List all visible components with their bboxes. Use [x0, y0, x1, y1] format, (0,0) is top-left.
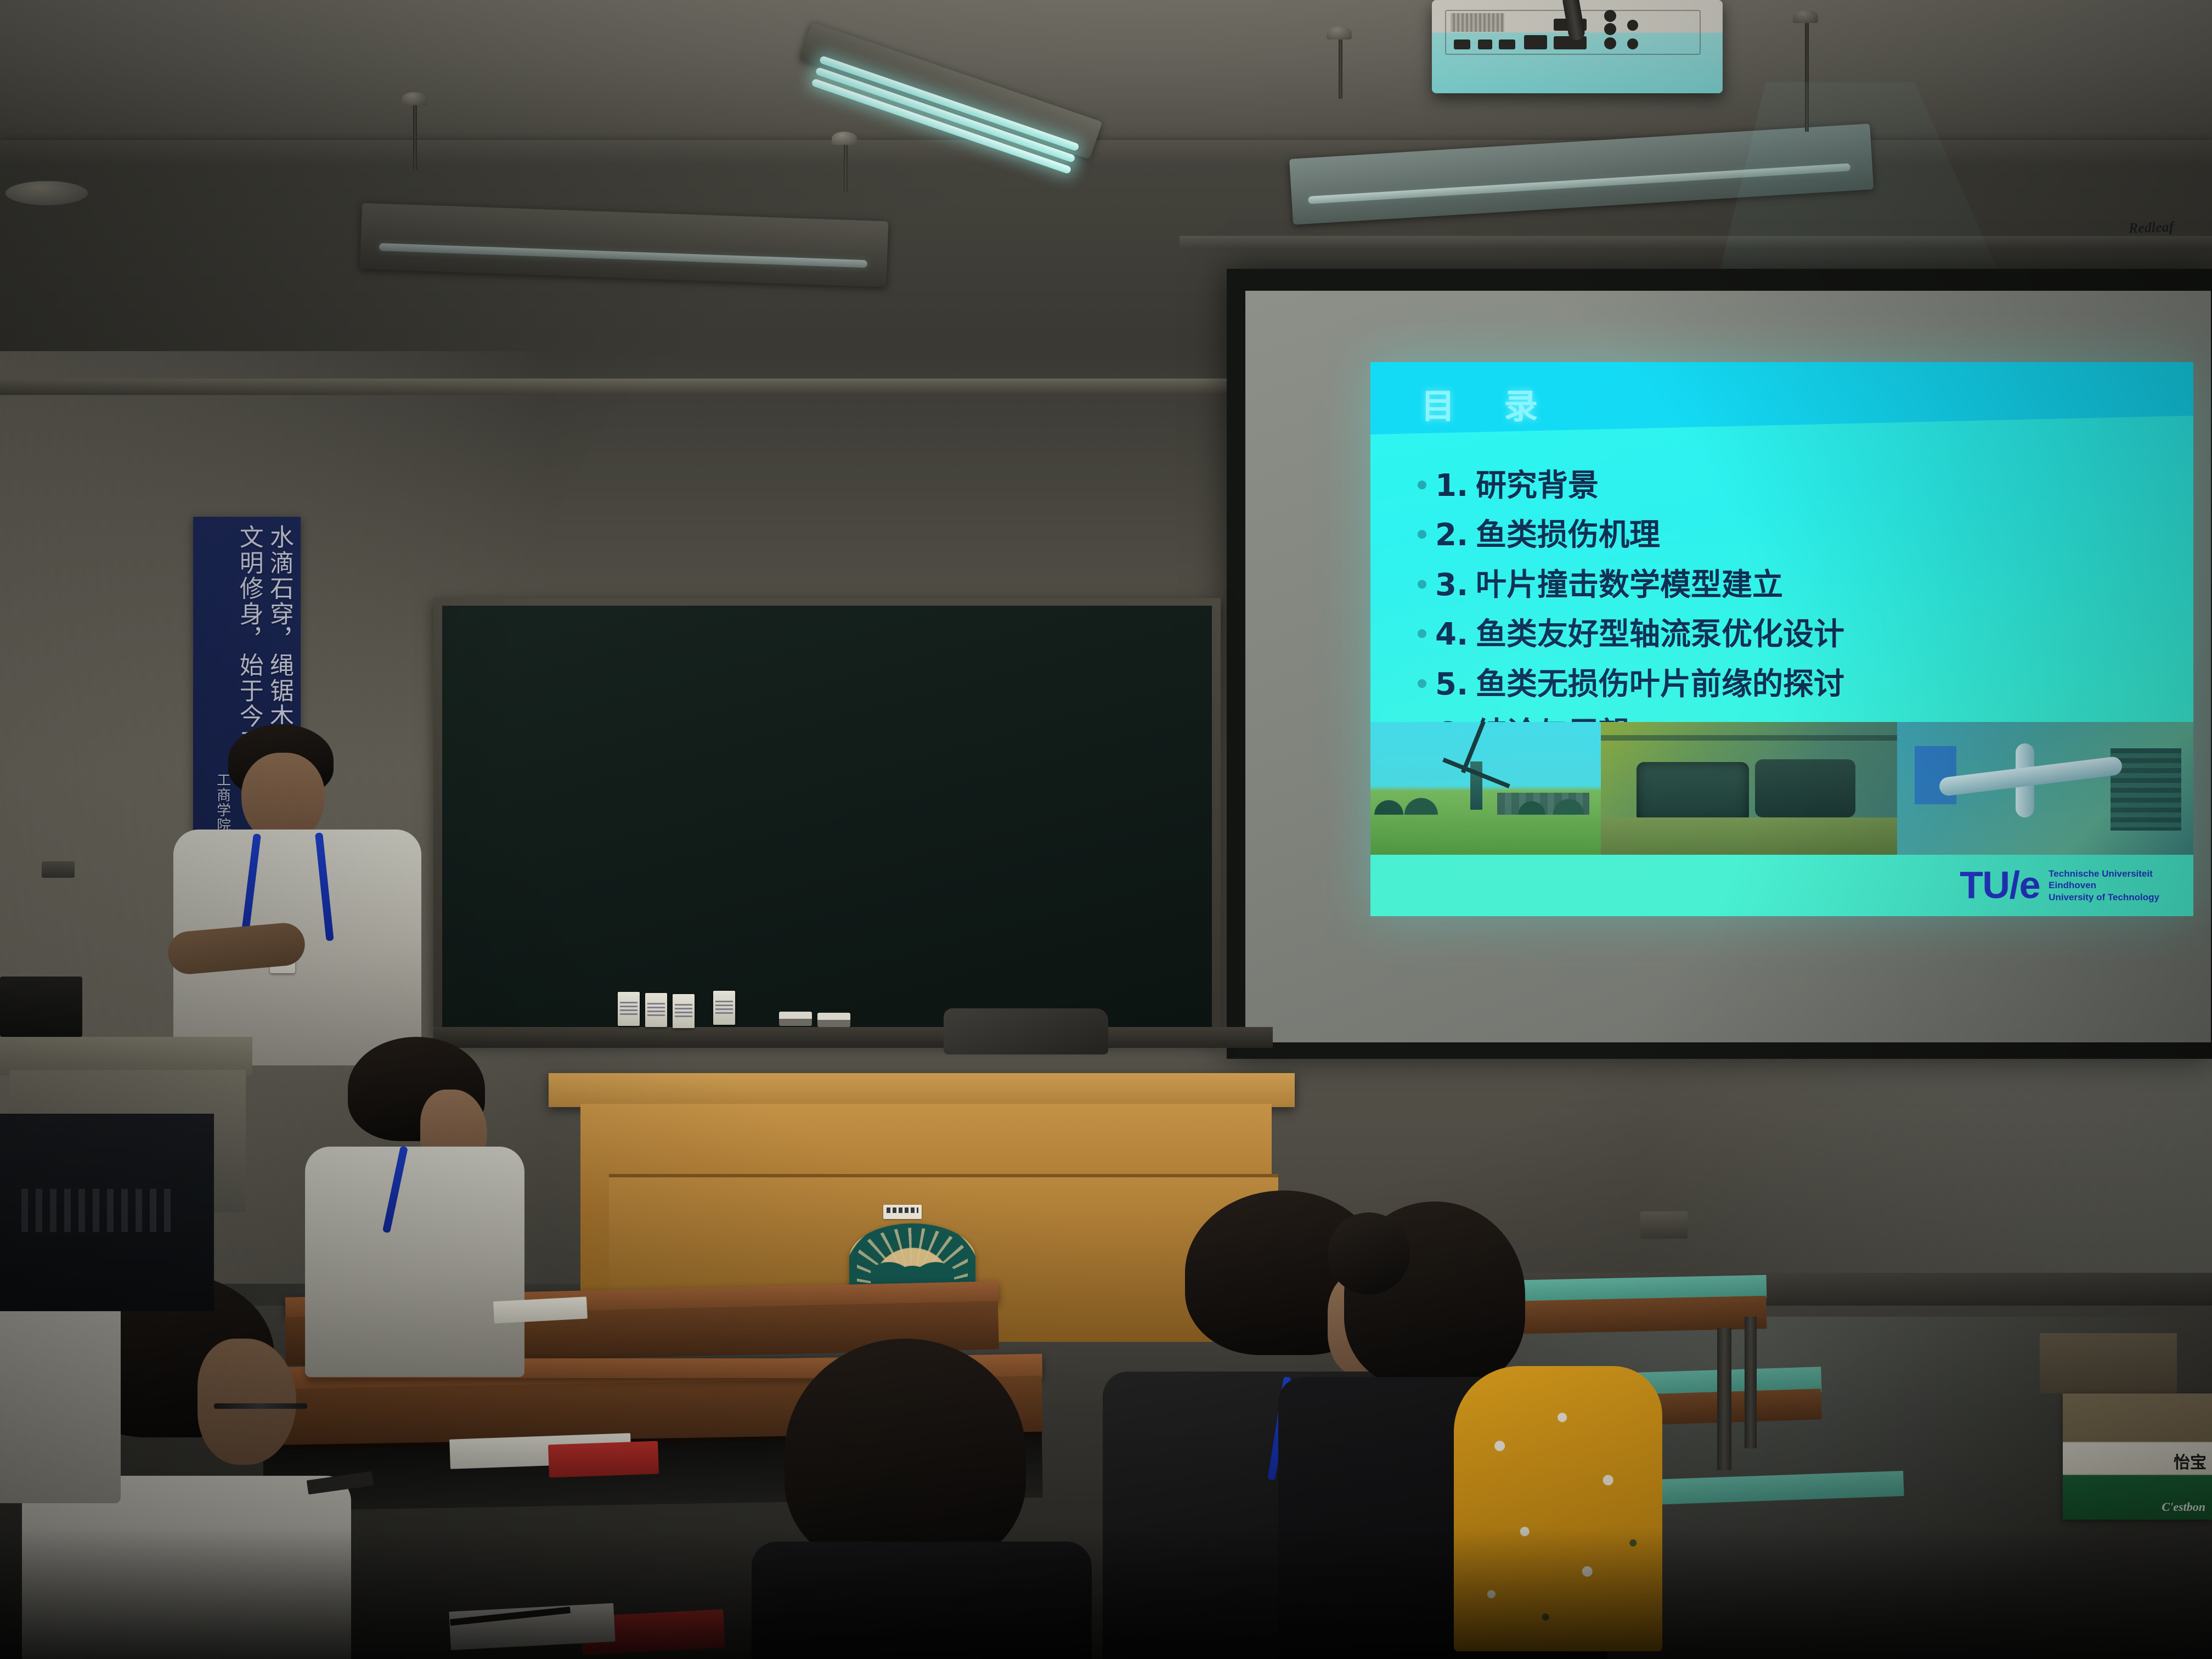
podium-label-tag	[883, 1205, 922, 1219]
slide-title: 目 录	[1421, 379, 1545, 428]
glasses	[214, 1403, 307, 1409]
attendee-floral	[1454, 1333, 1673, 1659]
slide-photo-windmill	[1370, 722, 1601, 855]
wall-edge-label: Redleaf	[2129, 219, 2174, 237]
tue-logo-line3: University of Technology	[2049, 891, 2159, 903]
water-carton: 怡宝 C'estbon	[2063, 1393, 2212, 1520]
notice-board	[0, 1114, 214, 1311]
toc-item: 5. 鱼类无损伤叶片前缘的探讨	[1418, 668, 2160, 701]
attendee-torso	[0, 1284, 121, 1503]
ceiling-projector	[1432, 0, 1723, 93]
chalk-box[interactable]	[645, 993, 667, 1027]
toc-item: 3. 叶片撞击数学模型建立	[1418, 569, 2160, 602]
chalk-box[interactable]	[673, 994, 695, 1028]
toc-number: 5.	[1435, 668, 1476, 701]
desk-leg-1	[1717, 1328, 1731, 1470]
slide-footer-band: TU/e Technische Universiteit Eindhoven U…	[1370, 855, 2193, 916]
desk-leg-2	[1745, 1317, 1757, 1448]
cardboard-box-upper	[2040, 1333, 2177, 1393]
wall-cornice-left	[0, 379, 1234, 395]
red-notebook[interactable]	[548, 1441, 659, 1478]
toc-item: 1. 研究背景	[1418, 470, 2160, 503]
attendee-center	[752, 1339, 1092, 1659]
ceiling-fixture-corner	[5, 181, 88, 205]
water-carton-brand-cn: 怡宝	[2174, 1449, 2207, 1473]
toc-bullet-icon	[1418, 530, 1426, 539]
attendee-face	[198, 1339, 296, 1465]
presenter	[165, 724, 439, 1064]
toc-item: 4. 鱼类友好型轴流泵优化设计	[1418, 618, 2160, 651]
toc-bullet-icon	[1418, 629, 1426, 638]
toc-number: 4.	[1435, 618, 1476, 651]
wall-outlet[interactable]	[42, 861, 75, 878]
toc-label: 鱼类损伤机理	[1476, 519, 1660, 552]
chalkboard	[442, 606, 1212, 1032]
attendee-hair-bun	[1328, 1212, 1410, 1295]
slide-photo-pump-workshop	[1601, 722, 1897, 855]
chalkboard-eraser[interactable]	[817, 1013, 850, 1027]
chalkboard-ledge	[433, 1027, 1273, 1048]
attendee-torso	[1454, 1366, 1662, 1651]
chalk-box[interactable]	[618, 992, 640, 1026]
water-carton-brand-en: C'estbon	[2162, 1500, 2205, 1514]
chalkboard-eraser[interactable]	[779, 1012, 812, 1026]
toc-number: 2.	[1435, 519, 1476, 552]
toc-bullet-icon	[1418, 679, 1426, 688]
laptop[interactable]	[0, 977, 82, 1037]
attendee-hair	[785, 1339, 1026, 1569]
attendee-torso	[752, 1542, 1092, 1659]
toc-label: 鱼类无损伤叶片前缘的探讨	[1476, 668, 1844, 701]
lectern-top-surface	[549, 1073, 1295, 1107]
tue-logo-line1: Technische Universiteit	[2049, 868, 2159, 879]
lecture-hall-photo: 目 录 1. 研究背景 2. 鱼类损伤机理 3. 叶片撞击数学模型建立 4. 鱼…	[0, 0, 2212, 1659]
toc-bullet-icon	[1418, 481, 1426, 489]
toc-number: 3.	[1435, 569, 1476, 602]
toc-item: 2. 鱼类损伤机理	[1418, 519, 2160, 552]
tue-logo: TU/e Technische Universiteit Eindhoven U…	[1960, 868, 2159, 903]
tue-logo-line2: Eindhoven	[2049, 879, 2159, 891]
toc-label: 鱼类友好型轴流泵优化设计	[1476, 618, 1844, 651]
toc-label: 研究背景	[1476, 470, 1599, 503]
slide-photo-pipe-test-rig	[1897, 722, 2193, 855]
toc-bullet-icon	[1418, 580, 1426, 589]
toc-number: 1.	[1435, 470, 1476, 503]
toc-label: 叶片撞击数学模型建立	[1476, 569, 1783, 602]
tue-logo-mark: TU/e	[1960, 868, 2040, 902]
laptop-bag[interactable]	[944, 1008, 1108, 1054]
notice-board-faded-text	[21, 1189, 171, 1232]
presentation-slide: 目 录 1. 研究背景 2. 鱼类损伤机理 3. 叶片撞击数学模型建立 4. 鱼…	[1370, 362, 2193, 916]
slide-photo-strip	[1370, 722, 2193, 855]
chalk-box[interactable]	[713, 991, 735, 1025]
tue-logo-wordmark: Technische Universiteit Eindhoven Univer…	[2049, 868, 2159, 903]
